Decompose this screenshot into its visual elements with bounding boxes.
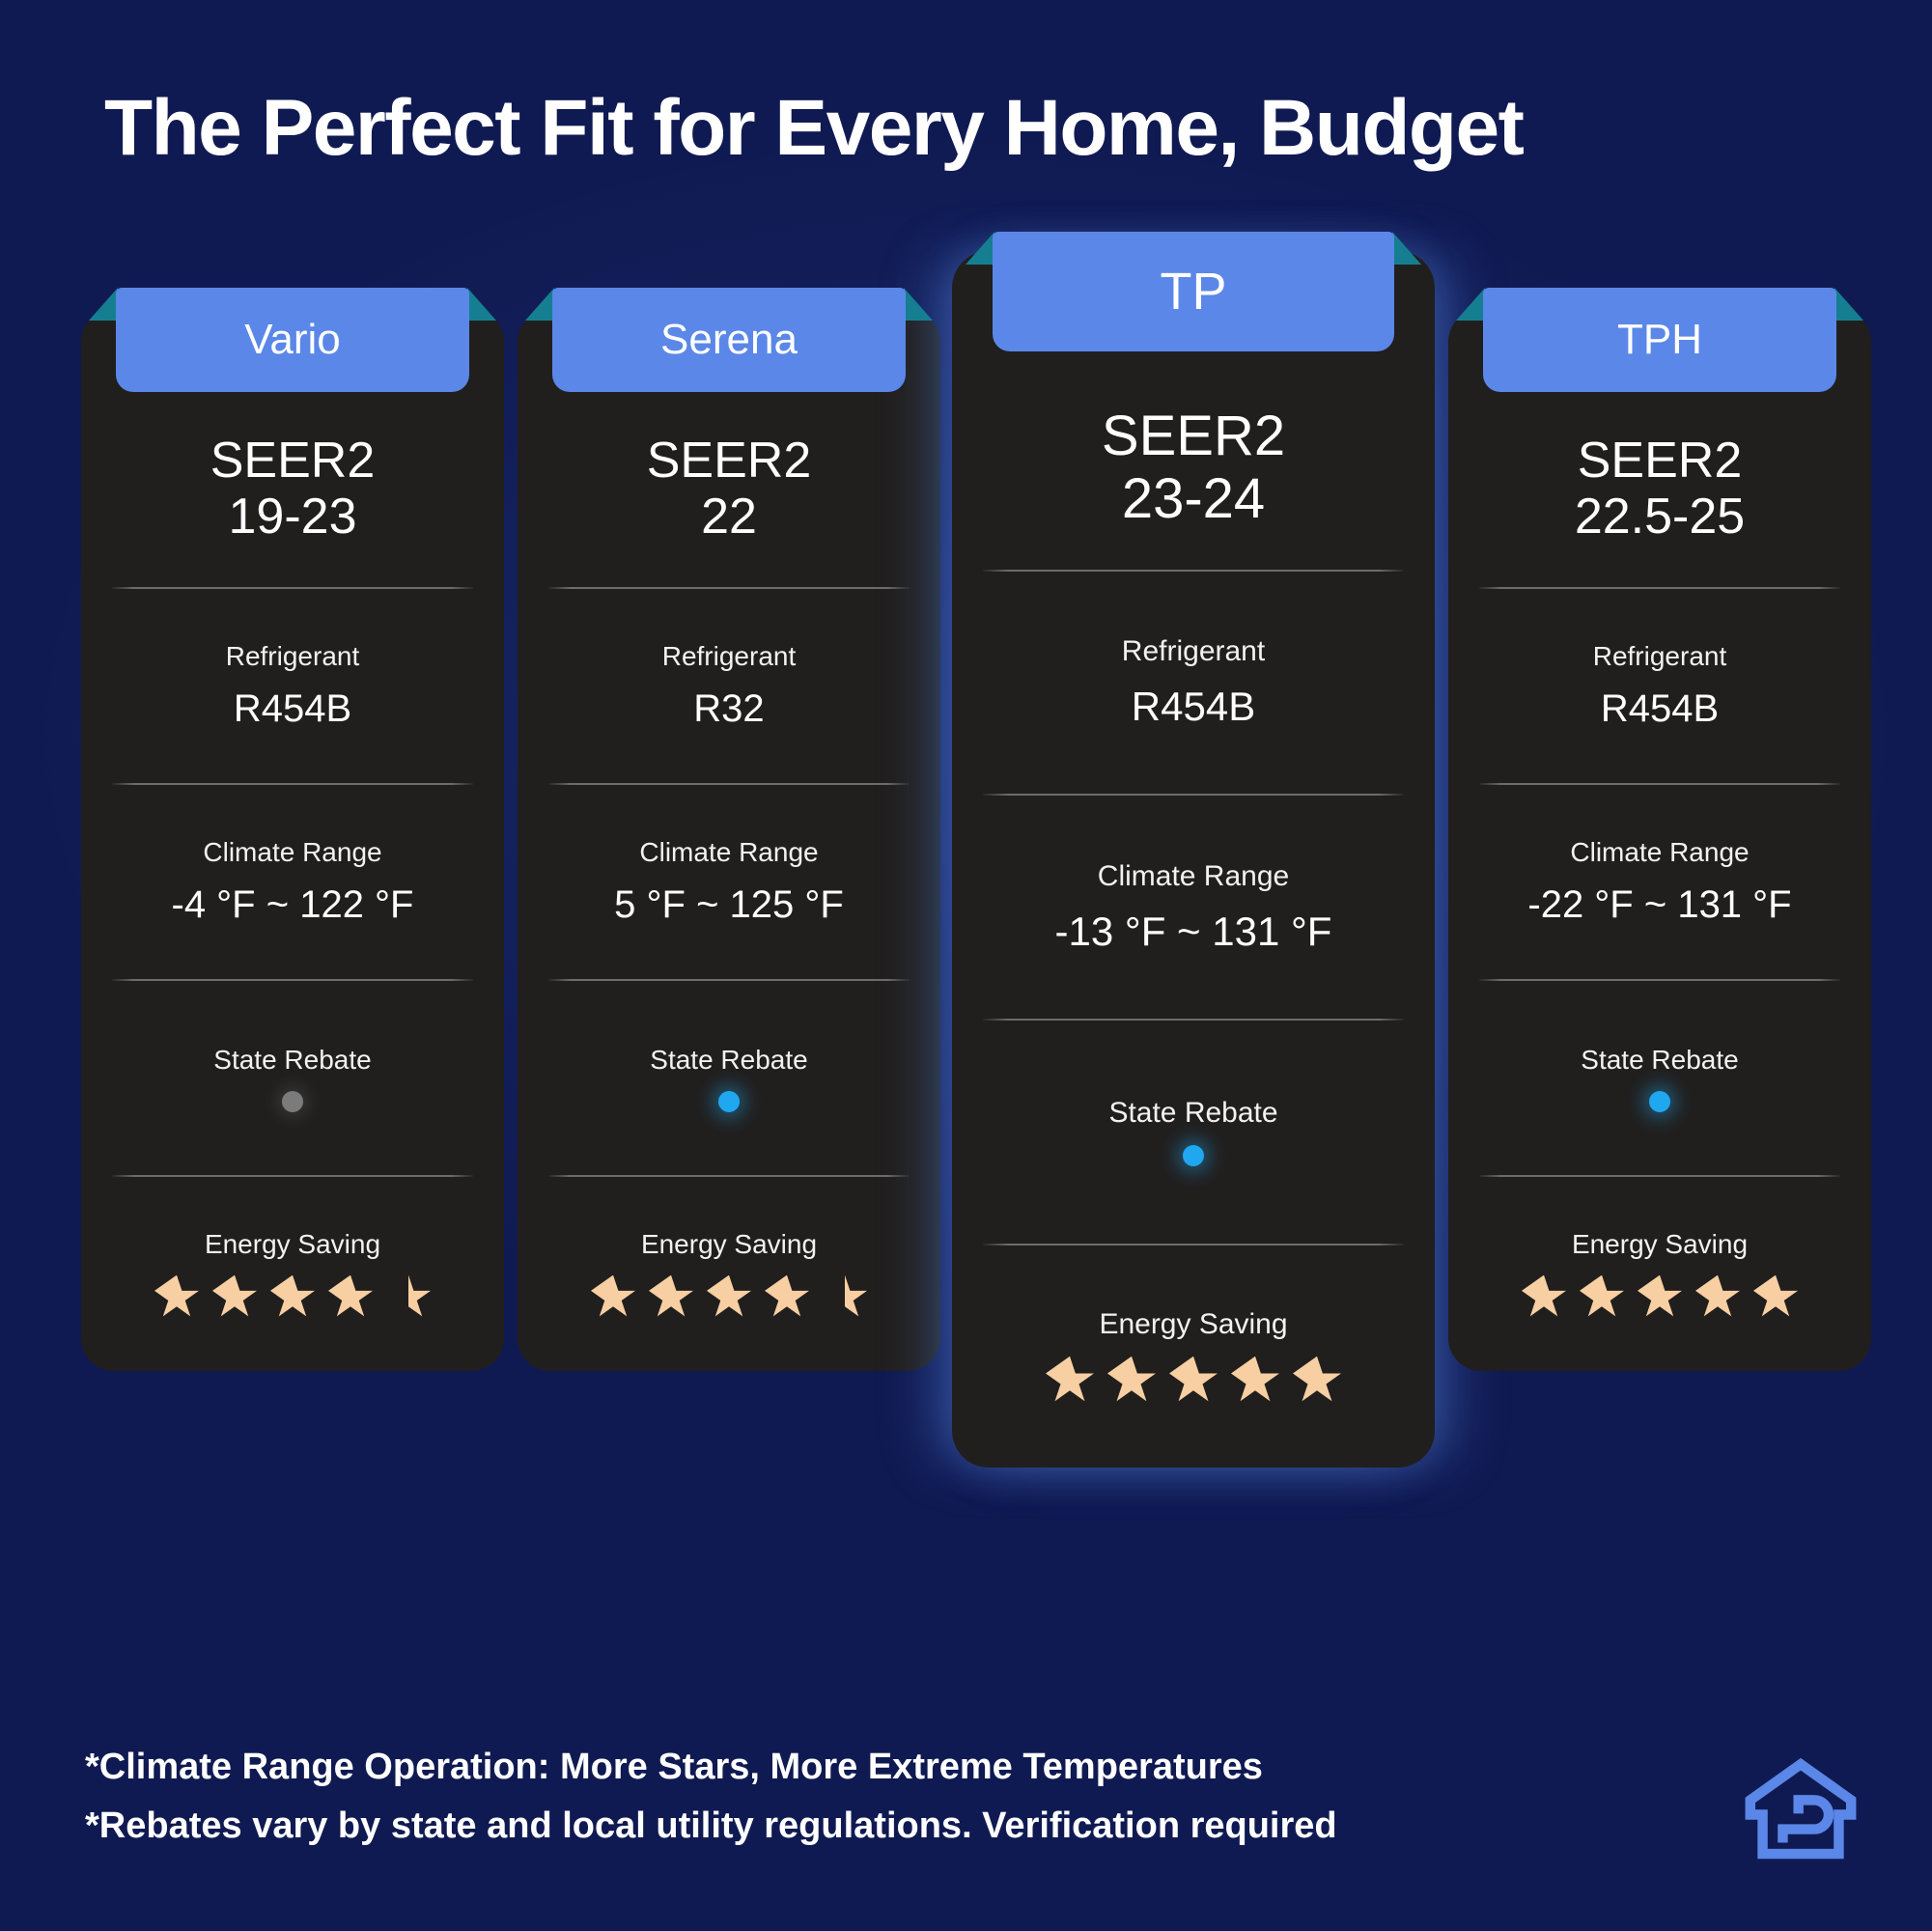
footnotes: *Climate Range Operation: More Stars, Mo…	[85, 1738, 1630, 1856]
star-icon	[591, 1275, 635, 1320]
seer-label: SEER2	[977, 406, 1410, 468]
star-icon	[1046, 1357, 1094, 1405]
spec-value: R454B	[234, 687, 351, 731]
seer-value: 19-23	[106, 489, 479, 545]
spec-energy-saving: Energy Saving	[106, 1177, 479, 1371]
spec-value: R454B	[1132, 684, 1255, 730]
spec-label: Climate Range	[1098, 860, 1289, 893]
star-icon	[1169, 1357, 1218, 1405]
spec-refrigerant: Refrigerant R32	[543, 589, 915, 783]
seer-label: SEER2	[106, 433, 479, 489]
spec-label: Refrigerant	[662, 641, 797, 672]
star-icon	[1695, 1275, 1740, 1320]
spec-label: Energy Saving	[1099, 1308, 1287, 1341]
spec-value: -4 °F ~ 122 °F	[172, 883, 414, 927]
product-tab-vario[interactable]: Vario	[116, 288, 469, 392]
star-icon	[707, 1275, 751, 1320]
spec-state-rebate: State Rebate	[977, 1021, 1410, 1244]
spec-label: State Rebate	[650, 1045, 807, 1076]
spec-label: Energy Saving	[641, 1229, 817, 1260]
star-icon	[1293, 1357, 1341, 1405]
rebate-indicator-dot	[1649, 1091, 1670, 1112]
rebate-indicator-dot	[1183, 1145, 1204, 1166]
card-surface: SEER2 22.5-25 Refrigerant R454B Climate …	[1448, 309, 1871, 1371]
spec-value: R32	[693, 687, 764, 731]
spec-label: Refrigerant	[226, 641, 360, 672]
seer-label: SEER2	[543, 433, 915, 489]
spec-climate-range: Climate Range -22 °F ~ 131 °F	[1473, 785, 1846, 979]
spec-value: -22 °F ~ 131 °F	[1527, 883, 1791, 927]
half-star-icon	[823, 1275, 867, 1320]
card-surface: SEER2 22 Refrigerant R32 Climate Range 5…	[518, 309, 940, 1371]
product-tab-serena[interactable]: Serena	[552, 288, 906, 392]
spec-label: State Rebate	[213, 1045, 371, 1076]
star-icon	[270, 1275, 315, 1320]
star-icon	[649, 1275, 693, 1320]
house-logo-icon	[1745, 1755, 1857, 1867]
rebate-indicator-dot	[718, 1091, 740, 1112]
star-icon	[765, 1275, 809, 1320]
card-surface: SEER2 23-24 Refrigerant R454B Climate Ra…	[952, 251, 1435, 1468]
star-icon	[1580, 1275, 1624, 1320]
page-title: The Perfect Fit for Every Home, Budget	[104, 83, 1523, 174]
spec-label: Energy Saving	[205, 1229, 380, 1260]
seer-label: SEER2	[1473, 433, 1846, 489]
spec-value: R454B	[1601, 687, 1719, 731]
seer-value: 22.5-25	[1473, 489, 1846, 545]
star-icon	[1231, 1357, 1279, 1405]
footnote-climate-range: *Climate Range Operation: More Stars, Mo…	[85, 1738, 1630, 1797]
spec-state-rebate: State Rebate	[1473, 981, 1846, 1175]
card-surface: SEER2 19-23 Refrigerant R454B Climate Ra…	[81, 309, 504, 1371]
star-icon	[1107, 1357, 1156, 1405]
star-icon	[1638, 1275, 1682, 1320]
energy-saving-stars	[154, 1275, 431, 1320]
spec-label: Climate Range	[203, 837, 381, 868]
spec-state-rebate: State Rebate	[106, 981, 479, 1175]
spec-energy-saving: Energy Saving	[543, 1177, 915, 1371]
spec-refrigerant: Refrigerant R454B	[977, 572, 1410, 795]
seer-value: 22	[543, 489, 915, 545]
energy-saving-stars	[1046, 1357, 1341, 1405]
half-star-icon	[386, 1275, 431, 1320]
spec-label: State Rebate	[1108, 1097, 1277, 1130]
spec-climate-range: Climate Range -13 °F ~ 131 °F	[977, 796, 1410, 1019]
spec-value: 5 °F ~ 125 °F	[614, 883, 844, 927]
spec-refrigerant: Refrigerant R454B	[106, 589, 479, 783]
product-tab-tp[interactable]: TP	[993, 232, 1394, 351]
energy-saving-stars	[1522, 1275, 1798, 1320]
spec-label: Refrigerant	[1593, 641, 1727, 672]
rebate-indicator-dot	[282, 1091, 303, 1112]
spec-label: Refrigerant	[1122, 635, 1265, 668]
spec-energy-saving: Energy Saving	[977, 1245, 1410, 1469]
footnote-rebates: *Rebates vary by state and local utility…	[85, 1797, 1630, 1856]
star-icon	[1753, 1275, 1798, 1320]
seer-value: 23-24	[977, 468, 1410, 531]
star-icon	[1522, 1275, 1566, 1320]
spec-climate-range: Climate Range 5 °F ~ 125 °F	[543, 785, 915, 979]
spec-label: Energy Saving	[1572, 1229, 1748, 1260]
spec-value: -13 °F ~ 131 °F	[1055, 909, 1332, 955]
product-card-row: SEER2 19-23 Refrigerant R454B Climate Ra…	[0, 232, 1932, 1583]
spec-refrigerant: Refrigerant R454B	[1473, 589, 1846, 783]
spec-label: Climate Range	[639, 837, 818, 868]
spec-label: State Rebate	[1581, 1045, 1738, 1076]
spec-climate-range: Climate Range -4 °F ~ 122 °F	[106, 785, 479, 979]
spec-energy-saving: Energy Saving	[1473, 1177, 1846, 1371]
star-icon	[212, 1275, 257, 1320]
energy-saving-stars	[591, 1275, 867, 1320]
product-tab-tph[interactable]: TPH	[1483, 288, 1836, 392]
spec-label: Climate Range	[1570, 837, 1749, 868]
star-icon	[328, 1275, 373, 1320]
star-icon	[154, 1275, 199, 1320]
spec-state-rebate: State Rebate	[543, 981, 915, 1175]
